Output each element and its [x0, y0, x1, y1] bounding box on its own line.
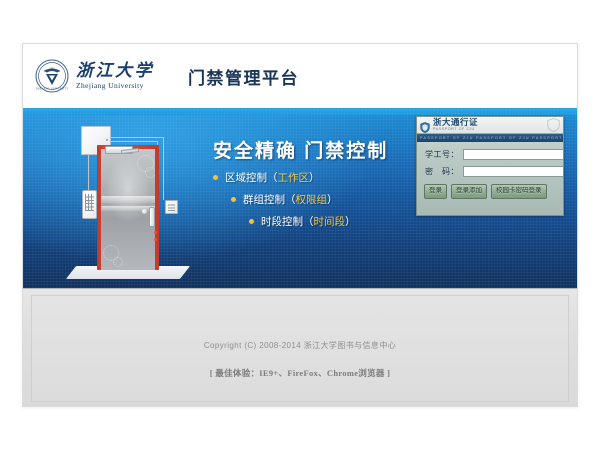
- brand-name-cn: 浙江大学: [76, 62, 154, 79]
- login-panel-header: 浙大通行证 PASSPORT OF ZJU: [417, 117, 563, 134]
- username-input[interactable]: [463, 149, 564, 160]
- login-title-en: PASSPORT OF ZJU: [433, 128, 478, 132]
- keypad-card-reader-icon: [82, 190, 97, 219]
- hero-banner: 安全精确 门禁控制 区域控制（ 工作区 ） 群组控制（ 权限组 ） 时段控制（ …: [23, 108, 577, 288]
- zju-seal-icon: ZHEJIANG UNIVERSITY 1897: [35, 59, 69, 93]
- footer-inner: Copyright (C) 2008-2014 浙江大学图书与信息中心 [ 最佳…: [31, 295, 569, 402]
- cable-horizontal-lower: [109, 141, 157, 142]
- brand-logo[interactable]: ZHEJIANG UNIVERSITY 1897 浙江大学 Zhejiang U…: [35, 59, 154, 93]
- feature-text: 区域控制（: [225, 170, 278, 185]
- password-label: 密 码：: [425, 166, 463, 177]
- gear-icon: [145, 167, 155, 178]
- door-reflection-band: [101, 196, 155, 203]
- security-door-leaf: [101, 149, 155, 270]
- login-panel: 浙大通行证 PASSPORT OF ZJU PASSPORT OF ZJU PA…: [416, 116, 564, 216]
- feature-text: 时段控制（: [261, 214, 314, 229]
- campus-card-login-button[interactable]: 校园卡密码登录: [491, 184, 547, 199]
- bullet-icon: [249, 219, 254, 224]
- feature-text: 群组控制（: [243, 192, 296, 207]
- login-field-row-password: 密 码：: [425, 166, 555, 177]
- password-input[interactable]: [463, 166, 564, 177]
- feature-highlight: 工作区: [278, 170, 310, 185]
- shield-icon: [420, 120, 430, 131]
- keypad-keys: [85, 194, 94, 211]
- login-title-cn: 浙大通行证: [433, 118, 478, 127]
- feature-item-time-control: 时段控制（ 时间段 ）: [213, 214, 428, 229]
- page-container: ZHEJIANG UNIVERSITY 1897 浙江大学 Zhejiang U…: [22, 43, 578, 407]
- browser-support-text: [ 最佳体验：IE9+、FireFox、Chrome浏览器 ]: [32, 367, 568, 379]
- site-footer: Copyright (C) 2008-2014 浙江大学图书与信息中心 [ 最佳…: [23, 288, 577, 407]
- feature-tail: ）: [327, 192, 338, 207]
- exit-push-button-icon: [165, 200, 178, 214]
- svg-text:1897: 1897: [50, 67, 56, 70]
- login-button-group: 登录 登录添加 校园卡密码登录: [417, 183, 563, 199]
- feature-tail: ）: [309, 170, 320, 185]
- feature-item-area-control: 区域控制（ 工作区 ）: [213, 170, 428, 185]
- brand-name-en: Zhejiang University: [76, 82, 154, 90]
- exit-button-keys: [168, 203, 175, 211]
- svg-text:ZHEJIANG UNIVERSITY: ZHEJIANG UNIVERSITY: [36, 87, 69, 90]
- feature-item-group-control: 群组控制（ 权限组 ）: [213, 192, 428, 207]
- gear-icon: [113, 257, 123, 267]
- site-header: ZHEJIANG UNIVERSITY 1897 浙江大学 Zhejiang U…: [23, 44, 577, 108]
- feature-highlight: 权限组: [296, 192, 328, 207]
- login-title-block: 浙大通行证 PASSPORT OF ZJU: [433, 118, 478, 131]
- login-strip-text: PASSPORT OF ZJU PASSPORT OF ZJU PASSPORT…: [417, 136, 563, 140]
- cable-to-reader: [88, 153, 89, 190]
- username-label: 学工号：: [425, 149, 463, 160]
- bullet-icon: [213, 175, 218, 180]
- login-field-row-username: 学工号：: [425, 149, 555, 160]
- feature-highlight: 时间段: [314, 214, 346, 229]
- access-control-illustration: [45, 114, 195, 288]
- login-button[interactable]: 登录: [424, 184, 447, 199]
- login-form: 学工号： 密 码：: [417, 142, 563, 177]
- banner-slogan: 安全精确 门禁控制: [213, 136, 388, 163]
- feature-tail: ）: [345, 214, 356, 229]
- door-knob-icon: [142, 209, 147, 214]
- door-status-led: [154, 238, 157, 241]
- bullet-icon: [231, 197, 236, 202]
- copyright-text: Copyright (C) 2008-2014 浙江大学图书与信息中心: [32, 340, 568, 351]
- cable-horizontal-upper: [109, 137, 163, 138]
- login-add-button[interactable]: 登录添加: [451, 184, 487, 199]
- page-title: 门禁管理平台: [188, 64, 299, 89]
- login-passport-strip: PASSPORT OF ZJU PASSPORT OF ZJU PASSPORT…: [417, 134, 563, 142]
- security-door-frame: [97, 145, 159, 270]
- feature-list: 区域控制（ 工作区 ） 群组控制（ 权限组 ） 时段控制（ 时间段 ）: [213, 170, 428, 236]
- door-handle-icon: [149, 207, 155, 227]
- cable-to-exit-button: [163, 137, 164, 200]
- shield-watermark-icon: [547, 118, 560, 132]
- brand-wordmark: 浙江大学 Zhejiang University: [76, 62, 154, 90]
- door-status-led: [154, 231, 157, 234]
